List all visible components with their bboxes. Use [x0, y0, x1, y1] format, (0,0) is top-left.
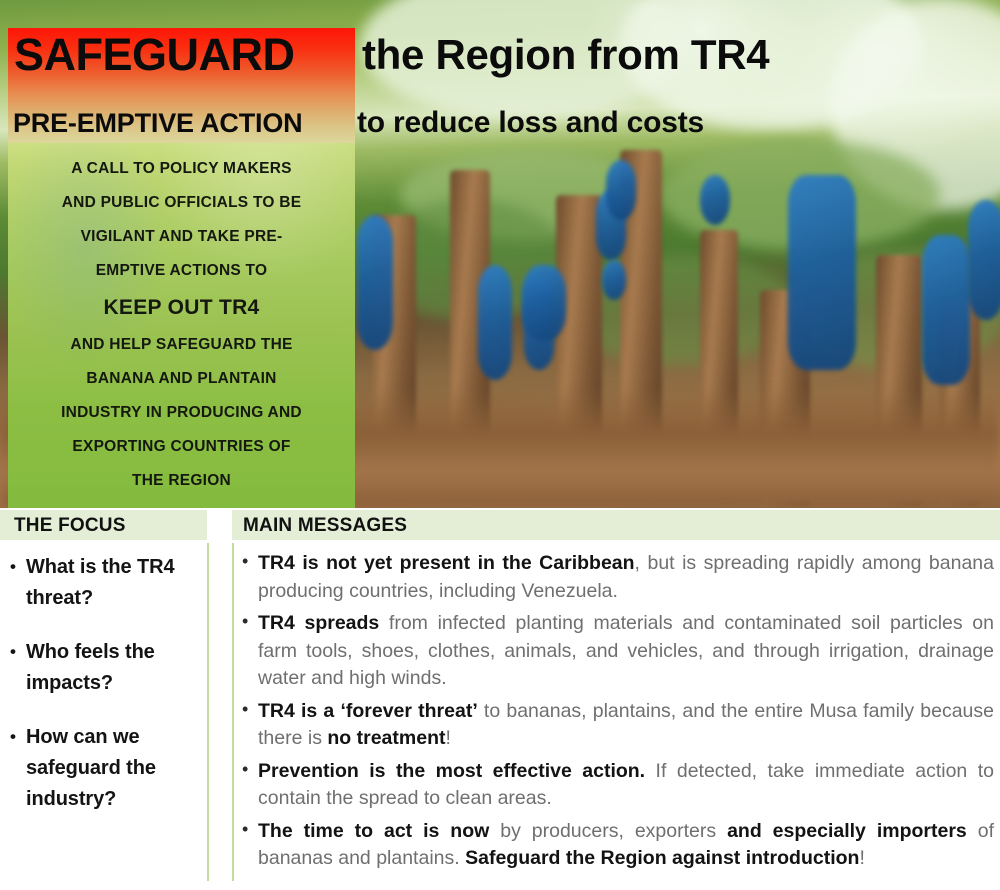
blue-bunch-cover — [606, 160, 636, 220]
column-divider-right — [232, 543, 234, 881]
call-to-action-line: KEEP OUT TR4 — [10, 288, 353, 328]
poster-root: SAFEGUARD the Region from TR4 PRE-EMPTIV… — [0, 0, 1000, 890]
message-emphasis: TR4 spreads — [258, 612, 379, 634]
blue-bunch-cover — [522, 265, 566, 340]
focus-list-item: How can we safeguard the industry? — [8, 722, 204, 815]
focus-list-item: Who feels the impacts? — [8, 637, 204, 699]
call-to-action-line: EMPTIVE ACTIONS TO — [10, 254, 353, 288]
page-subtitle-highlight: PRE-EMPTIVE ACTION — [13, 110, 302, 137]
message-text: ! — [445, 727, 450, 749]
focus-heading-bar: THE FOCUS — [0, 510, 207, 540]
message-text: ! — [859, 847, 864, 869]
call-to-action-line: INDUSTRY IN PRODUCING AND — [10, 396, 353, 430]
page-title-highlight: SAFEGUARD — [14, 32, 295, 77]
page-title-rest: the Region from TR4 — [362, 34, 769, 76]
call-to-action-line: A CALL TO POLICY MAKERS — [10, 152, 353, 186]
focus-heading-label: THE FOCUS — [14, 515, 126, 537]
message-emphasis: and especially importers — [727, 820, 967, 842]
message-emphasis: TR4 is not yet present in the Caribbean — [258, 552, 635, 574]
message-emphasis: Safeguard the Region against introductio… — [465, 847, 859, 869]
call-to-action-line: AND HELP SAFEGUARD THE — [10, 328, 353, 362]
message-text: by producers, exporters — [489, 820, 727, 842]
main-messages-list-item: Prevention is the most effective action.… — [242, 758, 994, 813]
blue-bunch-cover — [357, 215, 393, 350]
call-to-action-line: AND PUBLIC OFFICIALS TO BE — [10, 186, 353, 220]
blue-bunch-cover — [478, 265, 512, 380]
call-to-action-line: BANANA AND PLANTAIN — [10, 362, 353, 396]
blue-bunch-cover — [968, 200, 1000, 320]
main-messages-heading-bar: MAIN MESSAGES — [232, 510, 1000, 540]
main-messages-list: TR4 is not yet present in the Caribbean,… — [242, 550, 994, 878]
main-messages-list-item: TR4 spreads from infected planting mater… — [242, 610, 994, 693]
main-messages-list-item: The time to act is now by producers, exp… — [242, 818, 994, 873]
main-messages-list-item: TR4 is a ‘forever threat’ to bananas, pl… — [242, 698, 994, 753]
main-messages-heading-label: MAIN MESSAGES — [243, 515, 407, 537]
call-to-action-text: A CALL TO POLICY MAKERSAND PUBLIC OFFICI… — [10, 152, 353, 498]
message-emphasis: The time to act is now — [258, 820, 489, 842]
message-emphasis: Prevention is the most effective action. — [258, 760, 645, 782]
page-subtitle-rest: to reduce loss and costs — [357, 108, 704, 138]
message-emphasis: no treatment — [327, 727, 445, 749]
column-divider-left — [207, 543, 209, 881]
blue-bunch-cover — [700, 175, 730, 225]
blue-bunch-cover — [788, 175, 856, 370]
main-messages-list-item: TR4 is not yet present in the Caribbean,… — [242, 550, 994, 605]
call-to-action-line: THE REGION — [10, 464, 353, 498]
focus-list-item: What is the TR4 threat? — [8, 552, 204, 614]
focus-list: What is the TR4 threat?Who feels the imp… — [8, 552, 204, 838]
call-to-action-line: VIGILANT AND TAKE PRE- — [10, 220, 353, 254]
call-to-action-line: EXPORTING COUNTRIES OF — [10, 430, 353, 464]
blue-bunch-cover — [922, 235, 970, 385]
message-emphasis: TR4 is a ‘forever threat’ — [258, 700, 478, 722]
blue-bunch-cover — [602, 260, 626, 300]
